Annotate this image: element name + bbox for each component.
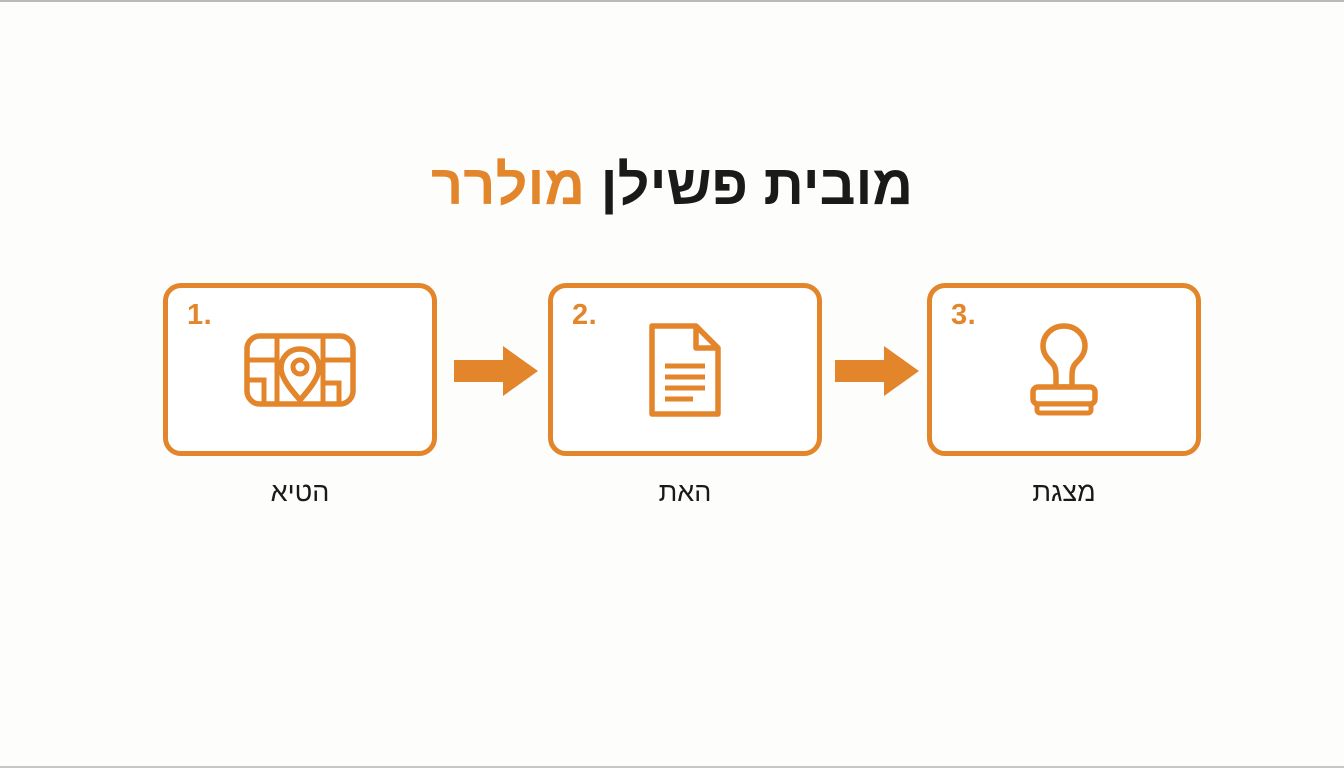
- step-label-1: הטיא: [163, 476, 437, 508]
- document-icon: [553, 288, 817, 451]
- step-label-2: האת: [548, 476, 822, 508]
- step-card-3[interactable]: 3.: [927, 283, 1201, 456]
- process-step-3[interactable]: 3. מצגת: [927, 283, 1201, 508]
- map-pin-icon: [168, 288, 432, 451]
- arrow-right-icon-2: [835, 346, 919, 396]
- page-title-lead: מובית פשילן: [585, 153, 913, 216]
- stamp-icon: [932, 288, 1196, 451]
- slide-canvas: מובית פשילן מולרר 1.: [0, 0, 1344, 768]
- process-step-1[interactable]: 1.: [163, 283, 437, 508]
- process-flow: 1.: [163, 283, 1197, 513]
- slide-top-edge-line: [0, 0, 1344, 2]
- step-label-3: מצגת: [927, 476, 1201, 508]
- process-step-2[interactable]: 2. האת: [548, 283, 822, 508]
- page-title-accent: מולרר: [431, 153, 585, 216]
- step-card-1[interactable]: 1.: [163, 283, 437, 456]
- page-title: מובית פשילן מולרר: [0, 154, 1344, 216]
- step-card-2[interactable]: 2.: [548, 283, 822, 456]
- arrow-right-icon-1: [454, 346, 538, 396]
